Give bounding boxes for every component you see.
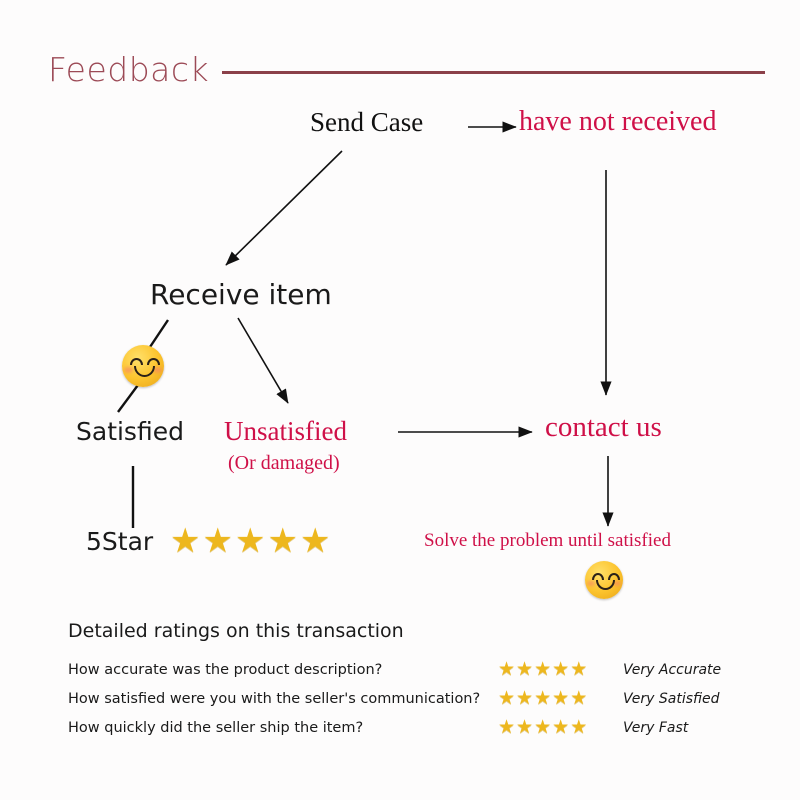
line-receiveitem-to-satisfied-lower bbox=[118, 385, 138, 412]
star-icon: ★ bbox=[300, 524, 330, 558]
smiling-face-icon bbox=[585, 561, 623, 599]
rating-stars-group: ★★★★★ bbox=[498, 660, 623, 679]
node-unsatisfied: Unsatisfied bbox=[224, 416, 347, 447]
star-icon: ★ bbox=[552, 718, 569, 737]
rating-label: Very Fast bbox=[623, 720, 688, 736]
star-icon: ★ bbox=[570, 689, 587, 708]
detailed-ratings-list: How accurate was the product description… bbox=[68, 655, 721, 742]
rating-stars-group: ★★★★★ bbox=[498, 718, 623, 737]
emoji-mouth-icon bbox=[596, 580, 615, 590]
star-icon: ★ bbox=[498, 660, 515, 679]
star-icon: ★ bbox=[498, 689, 515, 708]
star-icon: ★ bbox=[570, 718, 587, 737]
emoji-eye-right-icon bbox=[147, 358, 160, 365]
star-icon: ★ bbox=[516, 718, 533, 737]
emoji-blush-left-icon bbox=[587, 581, 595, 586]
star-icon: ★ bbox=[267, 524, 297, 558]
star-icon: ★ bbox=[552, 660, 569, 679]
arrow-receiveitem-to-unsatisfied bbox=[238, 318, 288, 403]
emoji-eye-left-icon bbox=[592, 573, 604, 580]
node-satisfied: Satisfied bbox=[76, 417, 184, 446]
star-icon: ★ bbox=[570, 660, 587, 679]
node-contact-us: contact us bbox=[545, 411, 662, 444]
rating-stars-group: ★★★★★ bbox=[498, 689, 623, 708]
node-solve-the-problem: Solve the problem until satisfied bbox=[424, 530, 671, 552]
rating-label: Very Satisfied bbox=[623, 691, 720, 707]
rating-stars: ★★★★★ bbox=[498, 718, 623, 737]
rating-label: Very Accurate bbox=[623, 662, 721, 678]
node-send-case: Send Case bbox=[310, 107, 423, 138]
rating-row: How accurate was the product description… bbox=[68, 655, 721, 684]
star-icon: ★ bbox=[534, 689, 551, 708]
page-title: Feedback bbox=[48, 50, 209, 89]
rating-stars: ★★★★★ bbox=[498, 660, 623, 679]
star-icon: ★ bbox=[534, 660, 551, 679]
rating-row: How quickly did the seller ship the item… bbox=[68, 713, 721, 742]
star-icon: ★ bbox=[170, 524, 200, 558]
header-divider-rule bbox=[222, 71, 765, 74]
star-icon: ★ bbox=[534, 718, 551, 737]
emoji-mouth-icon bbox=[134, 366, 155, 377]
arrow-sendcase-to-receiveitem bbox=[226, 151, 342, 265]
detailed-ratings-section: Detailed ratings on this transaction How… bbox=[68, 620, 721, 742]
emoji-eye-left-icon bbox=[130, 358, 143, 365]
rating-stars: ★★★★★ bbox=[498, 689, 623, 708]
node-5star-label: 5Star bbox=[86, 527, 153, 556]
node-or-damaged: (Or damaged) bbox=[228, 452, 340, 475]
line-receiveitem-to-satisfied-upper bbox=[148, 320, 168, 350]
emoji-eye-right-icon bbox=[608, 573, 620, 580]
star-icon: ★ bbox=[235, 524, 265, 558]
detailed-ratings-heading: Detailed ratings on this transaction bbox=[68, 620, 721, 642]
feedback-infographic: Feedback Send Case have not received Rec… bbox=[0, 0, 800, 800]
star-icon: ★ bbox=[516, 660, 533, 679]
star-icon: ★ bbox=[202, 524, 232, 558]
rating-question: How accurate was the product description… bbox=[68, 662, 498, 678]
five-star-rating-stars: ★★★★★ bbox=[170, 524, 332, 558]
star-icon: ★ bbox=[552, 689, 569, 708]
rating-question: How satisfied were you with the seller's… bbox=[68, 691, 498, 707]
node-have-not-received: have not received bbox=[519, 106, 716, 138]
star-icon: ★ bbox=[516, 689, 533, 708]
star-icon: ★ bbox=[498, 718, 515, 737]
rating-row: How satisfied were you with the seller's… bbox=[68, 684, 721, 713]
node-receive-item: Receive item bbox=[150, 278, 332, 311]
rating-question: How quickly did the seller ship the item… bbox=[68, 720, 498, 736]
emoji-blush-left-icon bbox=[124, 367, 133, 373]
smiling-face-icon bbox=[122, 345, 164, 387]
